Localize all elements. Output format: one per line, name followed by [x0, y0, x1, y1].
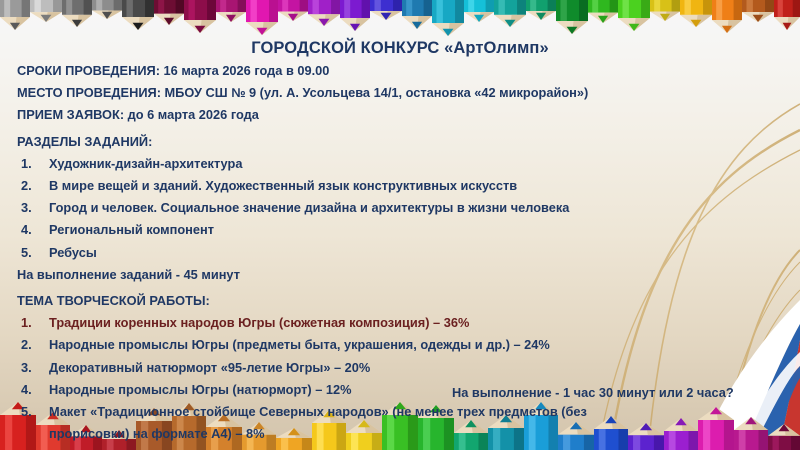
theme-item: 5.Макет «Традиционное стойбище Северных … — [17, 401, 657, 445]
footnote-line: На выполнение - 1 час 30 минут или 2 час… — [452, 385, 734, 400]
section-item-label: Город и человек. Социальное значение диз… — [49, 200, 569, 215]
section-item-number: 5. — [21, 242, 39, 264]
time-tasks-line: На выполнение заданий - 45 минут — [17, 264, 657, 286]
section-item-label: В мире вещей и зданий. Художественный яз… — [49, 178, 517, 193]
theme-item-number: 2. — [21, 334, 39, 356]
section-item: 2.В мире вещей и зданий. Художественный … — [17, 175, 657, 197]
applications-line: ПРИЕМ ЗАЯВОК: до 6 марта 2026 года — [17, 104, 657, 126]
theme-item: 2.Народные промыслы Югры (предметы быта,… — [17, 334, 657, 356]
section-item-number: 1. — [21, 153, 39, 175]
themes-list: 1.Традиции коренных народов Югры (сюжетн… — [17, 312, 657, 445]
section-item-label: Художник-дизайн-архитектура — [49, 156, 242, 171]
place-line: МЕСТО ПРОВЕДЕНИЯ: МБОУ СШ № 9 (ул. А. Ус… — [17, 82, 657, 104]
theme-item-label: Народные промыслы Югры (натюрморт) – 12% — [49, 382, 352, 397]
slide-canvas: ГОРОДСКОЙ КОНКУРС «АртОлимп» СРОКИ ПРОВЕ… — [0, 0, 800, 450]
section-item-label: Региональный компонент — [49, 222, 214, 237]
section-item: 4.Региональный компонент — [17, 219, 657, 241]
dates-line: СРОКИ ПРОВЕДЕНИЯ: 16 марта 2026 года в 0… — [17, 60, 657, 82]
theme-item: 1.Традиции коренных народов Югры (сюжетн… — [17, 312, 657, 334]
theme-item-label: Народные промыслы Югры (предметы быта, у… — [49, 337, 550, 352]
theme-item-number: 5. — [21, 401, 39, 423]
section-item: 3.Город и человек. Социальное значение д… — [17, 197, 657, 219]
sections-list: 1.Художник-дизайн-архитектура2.В мире ве… — [17, 153, 657, 264]
theme-item-number: 1. — [21, 312, 39, 334]
section-item-number: 2. — [21, 175, 39, 197]
section-item-number: 4. — [21, 219, 39, 241]
theme-item-label: Декоративный натюрморт «95-летие Югры» –… — [49, 360, 370, 375]
slide-content: ГОРОДСКОЙ КОНКУРС «АртОлимп» СРОКИ ПРОВЕ… — [0, 0, 800, 450]
theme-item-number: 4. — [21, 379, 39, 401]
sections-header: РАЗДЕЛЫ ЗАДАНИЙ: — [17, 131, 657, 153]
section-item-number: 3. — [21, 197, 39, 219]
section-item: 5.Ребусы — [17, 242, 657, 264]
theme-item-label: Традиции коренных народов Югры (сюжетная… — [49, 315, 469, 330]
page-title: ГОРОДСКОЙ КОНКУРС «АртОлимп» — [0, 39, 800, 58]
theme-item-label: Макет «Традиционное стойбище Северных на… — [49, 404, 587, 441]
section-item-label: Ребусы — [49, 245, 97, 260]
theme-header: ТЕМА ТВОРЧЕСКОЙ РАБОТЫ: — [17, 290, 657, 312]
section-item: 1.Художник-дизайн-архитектура — [17, 153, 657, 175]
theme-item-number: 3. — [21, 357, 39, 379]
theme-item: 3.Декоративный натюрморт «95-летие Югры»… — [17, 357, 657, 379]
